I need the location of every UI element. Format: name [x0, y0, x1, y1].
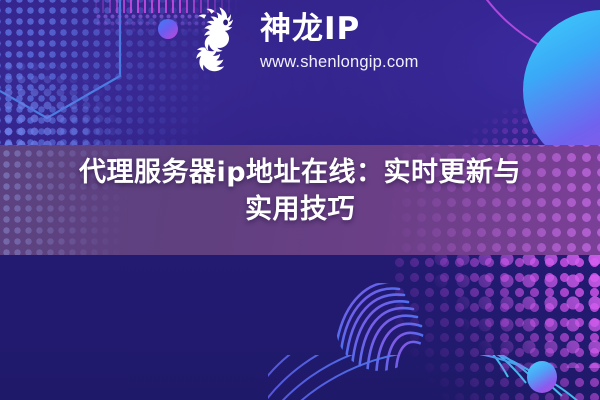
- brand-logo-block: 神龙IP www.shenlongip.com: [178, 4, 419, 80]
- brand-name: 神龙IP: [260, 14, 419, 45]
- brand-website-url: www.shenlongip.com: [260, 54, 419, 71]
- page-title: 代理服务器ip地址在线：实时更新与实用技巧: [0, 145, 600, 229]
- page-title-line2: 实用技巧: [245, 194, 355, 225]
- halftone-dots-bottom-right-large: [430, 248, 600, 368]
- promo-banner: 神龙IP www.shenlongip.com: [0, 0, 600, 400]
- gradient-sphere-bottom: [527, 361, 557, 393]
- brand-text-block: 神龙IP www.shenlongip.com: [260, 14, 419, 71]
- title-band: 代理服务器ip地址在线：实时更新与实用技巧: [0, 145, 600, 255]
- page-title-line1: 代理服务器ip地址在线：实时更新与: [79, 157, 521, 188]
- dragon-head-logo-icon: [178, 4, 252, 80]
- gradient-sphere-small: [158, 19, 178, 39]
